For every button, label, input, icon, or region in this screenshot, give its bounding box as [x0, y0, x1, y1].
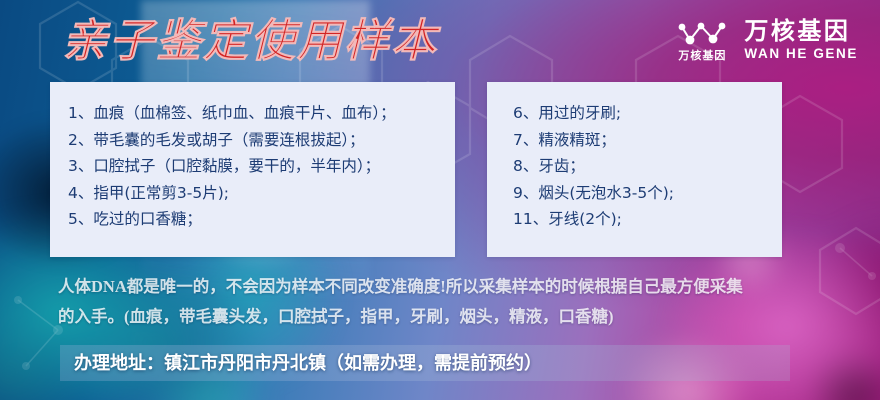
poster-canvas: 亲子鉴定使用样本 万核基因 万核基因	[0, 0, 880, 400]
list-item: 8、牙齿；	[513, 153, 782, 180]
note-line-2: 的入手。(血痕，带毛囊头发，口腔拭子，指甲，牙刷，烟头，精液，口香糖)	[58, 302, 848, 332]
molecule-node-icon	[675, 19, 729, 49]
list-item: 1、血痕（血棉签、纸巾血、血痕干片、血布）；	[68, 100, 455, 127]
note-line-1: 人体DNA都是唯一的，不会因为样本不同改变准确度!所以采集样本的时候根据自己最方…	[58, 272, 848, 302]
list-item: 7、精液精斑；	[513, 127, 782, 154]
list-item: 3、口腔拭子（口腔黏膜，要干的，半年内）；	[68, 153, 455, 180]
list-item: 9、烟头(无泡水3-5个);	[513, 180, 782, 207]
brand-text: 万核基因 WAN HE GENE	[744, 20, 858, 61]
brand-logo: 万核基因 万核基因 WAN HE GENE	[675, 19, 858, 62]
brand-name-en: WAN HE GENE	[744, 47, 858, 61]
logo-mark-label: 万核基因	[678, 51, 726, 62]
list-item: 5、吃过的口香糖；	[68, 206, 455, 233]
sample-list-panel-left: 1、血痕（血棉签、纸巾血、血痕干片、血布）； 2、带毛囊的毛发或胡子（需要连根拔…	[50, 82, 455, 257]
list-item: 6、用过的牙刷;	[513, 100, 782, 127]
list-item: 11、牙线(2个);	[513, 206, 782, 233]
note-paragraph: 人体DNA都是唯一的，不会因为样本不同改变准确度!所以采集样本的时候根据自己最方…	[58, 272, 848, 332]
brand-name-cn: 万核基因	[744, 20, 850, 44]
sample-list-left: 1、血痕（血棉签、纸巾血、血痕干片、血布）； 2、带毛囊的毛发或胡子（需要连根拔…	[50, 82, 455, 233]
sample-list-panel-right: 6、用过的牙刷; 7、精液精斑； 8、牙齿； 9、烟头(无泡水3-5个); 11…	[487, 82, 782, 257]
logo-mark: 万核基因	[675, 19, 729, 62]
page-title: 亲子鉴定使用样本	[62, 19, 438, 64]
list-item: 4、指甲(正常剪3-5片);	[68, 180, 455, 207]
sample-list-right: 6、用过的牙刷; 7、精液精斑； 8、牙齿； 9、烟头(无泡水3-5个); 11…	[487, 82, 782, 233]
address-text: 办理地址：镇江市丹阳市丹北镇（如需办理，需提前预约）	[74, 350, 542, 376]
list-item: 2、带毛囊的毛发或胡子（需要连根拔起）；	[68, 127, 455, 154]
